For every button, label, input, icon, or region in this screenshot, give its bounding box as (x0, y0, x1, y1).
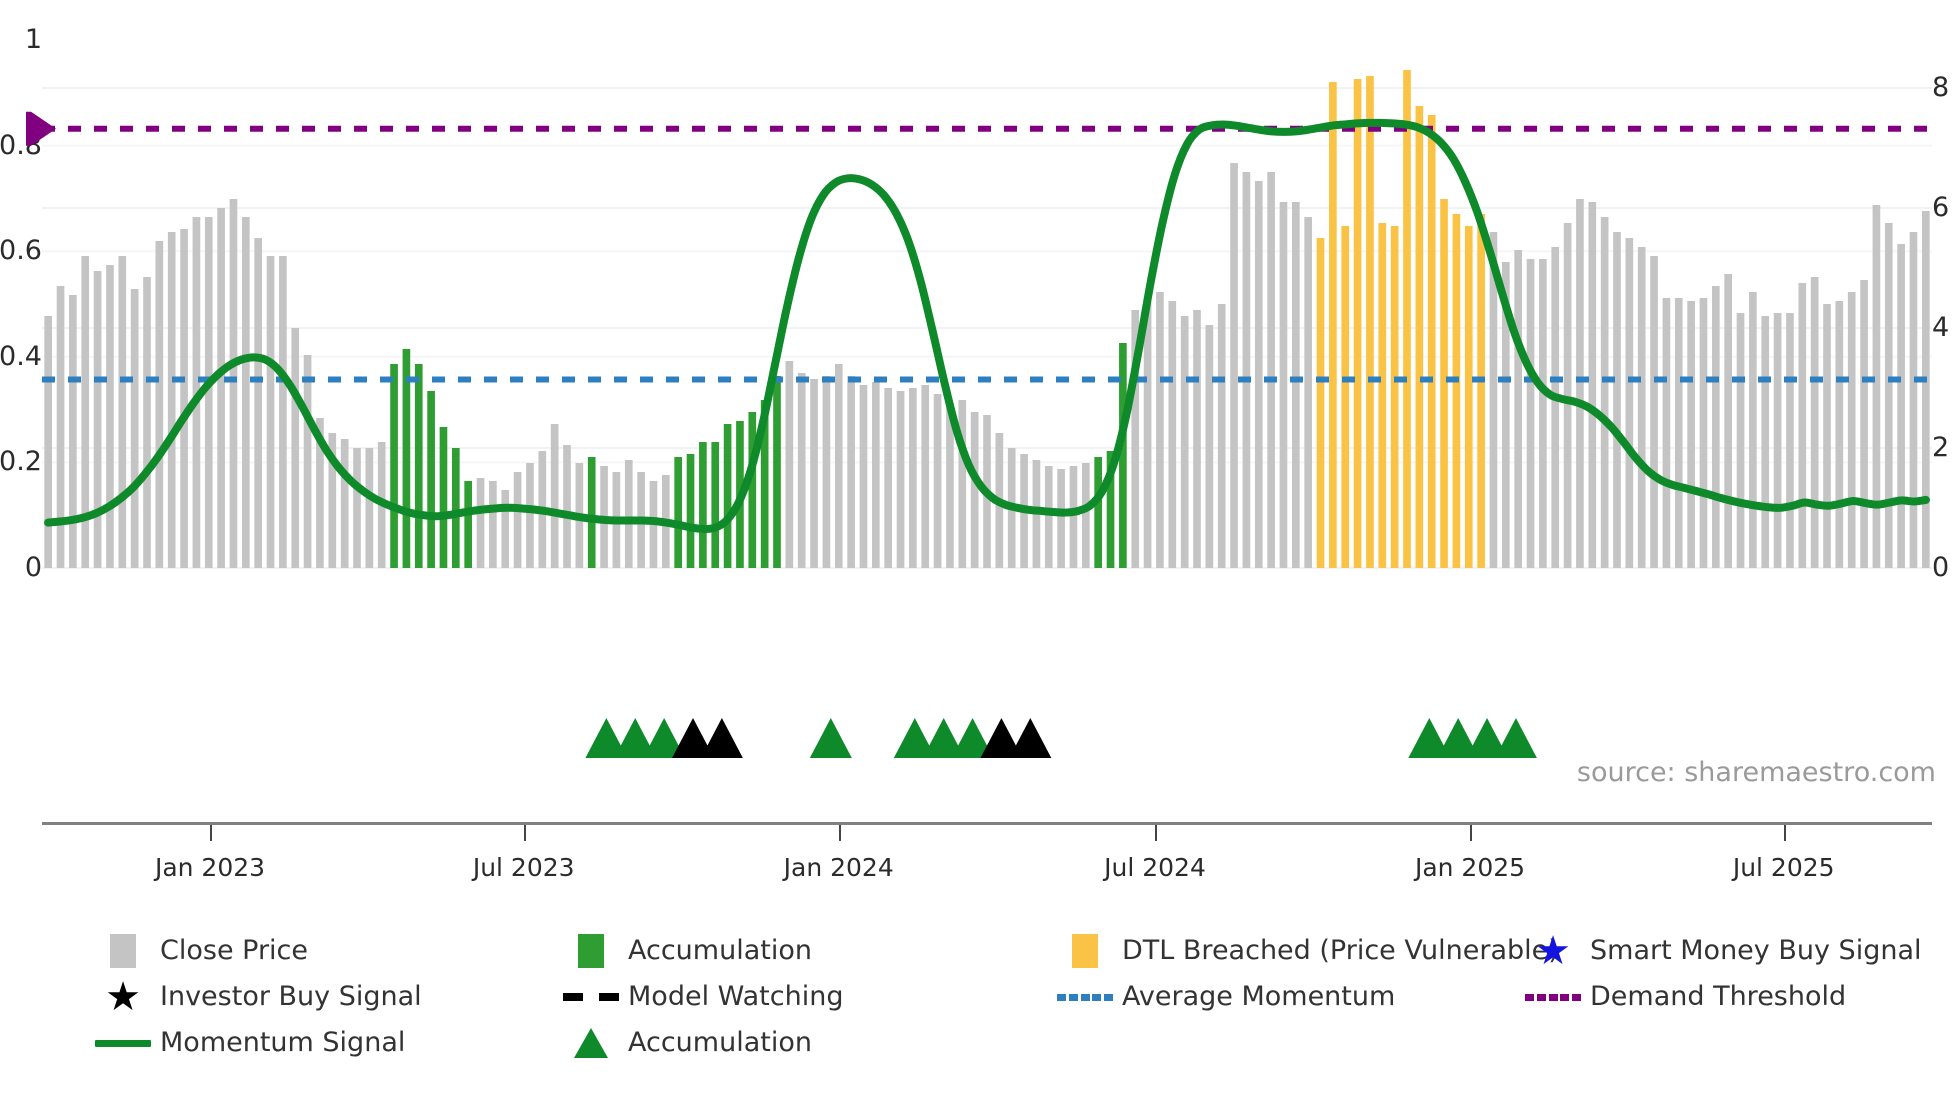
x-tick-label-jan-2023: Jan 2023 (155, 855, 265, 880)
bar-dtl-breached (1440, 199, 1448, 568)
legend-smart-money-buy-signal[interactable]: ★Smart Money Buy Signal (1516, 928, 1922, 974)
dotted-line-icon (1057, 994, 1113, 1001)
bar-close-price (1675, 298, 1683, 568)
bar-close-price (1638, 247, 1646, 568)
bar-close-price (1144, 298, 1152, 568)
bar-accumulation (390, 364, 398, 568)
bar-close-price (1181, 316, 1189, 568)
bar-accumulation (427, 391, 435, 568)
legend-row: Momentum SignalAccumulation (86, 1020, 1946, 1066)
bar-close-price (131, 289, 139, 568)
x-tick-label-jul-2024: Jul 2024 (1104, 855, 1206, 880)
bar-dtl-breached (1477, 214, 1485, 568)
bar-close-price (563, 445, 571, 568)
x-tick-mark (210, 825, 212, 841)
bar-close-price (1836, 301, 1844, 568)
source-attribution: source: sharemaestro.com (1577, 758, 1936, 788)
bar-close-price (1650, 256, 1658, 568)
bar-close-price (971, 412, 979, 568)
square-swatch-icon (578, 934, 604, 968)
bar-accumulation (724, 424, 732, 568)
x-tick-mark (1470, 825, 1472, 841)
bar-close-price (1255, 181, 1263, 568)
legend-model-watching[interactable]: Model Watching (554, 974, 843, 1020)
bar-close-price (551, 424, 559, 568)
legend-label: Close Price (160, 936, 308, 966)
legend-row: Close PriceAccumulationDTL Breached (Pri… (86, 928, 1946, 974)
line-swatch-icon (95, 1040, 151, 1047)
bar-close-price (501, 490, 509, 568)
bar-close-price (909, 388, 917, 568)
dashed-line-icon (563, 993, 619, 1001)
bar-close-price (1774, 313, 1782, 568)
demand-threshold-marker (26, 112, 56, 146)
bar-accumulation (711, 442, 719, 568)
bar-close-price (366, 448, 374, 568)
bar-close-price (526, 463, 534, 568)
x-tick-label-jul-2023: Jul 2023 (473, 855, 575, 880)
x-tick-label-jan-2025: Jan 2025 (1415, 855, 1525, 880)
legend-row: ★Investor Buy SignalModel WatchingAverag… (86, 974, 1946, 1020)
bar-close-price (489, 481, 497, 568)
bar-close-price (1897, 244, 1905, 568)
bar-close-price (254, 238, 262, 568)
bar-close-price (872, 382, 880, 568)
bar-close-price (1786, 313, 1794, 568)
bar-close-price (1663, 298, 1671, 568)
legend-label: Demand Threshold (1590, 982, 1846, 1012)
bar-accumulation (699, 442, 707, 568)
bar-close-price (304, 355, 312, 568)
bar-accumulation (748, 412, 756, 568)
bar-close-price (1218, 304, 1226, 568)
bar-close-price (1057, 469, 1065, 568)
bar-dtl-breached (1428, 115, 1436, 568)
legend-label: Momentum Signal (160, 1028, 405, 1058)
legend-momentum-signal[interactable]: Momentum Signal (86, 1020, 405, 1066)
bar-close-price (1910, 232, 1918, 568)
bar-close-price (353, 448, 361, 568)
bar-close-price (1798, 283, 1806, 568)
bar-close-price (118, 256, 126, 568)
bar-accumulation (687, 454, 695, 568)
chart-canvas (0, 0, 1960, 800)
chart-legend: Close PriceAccumulationDTL Breached (Pri… (86, 928, 1946, 1066)
bar-close-price (1613, 232, 1621, 568)
x-axis-line (42, 822, 1932, 825)
accumulation-marker (810, 718, 852, 758)
bar-close-price (279, 256, 287, 568)
legend-label: Accumulation (628, 936, 812, 966)
legend-label: Investor Buy Signal (160, 982, 422, 1012)
legend-label: Smart Money Buy Signal (1590, 936, 1922, 966)
bar-close-price (180, 229, 188, 568)
bar-dtl-breached (1366, 76, 1374, 568)
bar-close-price (1514, 250, 1522, 568)
plot-area (42, 40, 1932, 570)
bar-close-price (267, 256, 275, 568)
accumulation-markers (585, 718, 1537, 758)
bar-accumulation (1094, 457, 1102, 568)
bar-close-price (1626, 238, 1634, 568)
bar-accumulation (452, 448, 460, 568)
bar-dtl-breached (1317, 238, 1325, 568)
bar-dtl-breached (1403, 70, 1411, 568)
bar-close-price (1712, 286, 1720, 568)
bar-close-price (835, 364, 843, 568)
bar-close-price (1045, 466, 1053, 568)
bar-close-price (1576, 199, 1584, 568)
bar-close-price (958, 400, 966, 568)
investor-buy-signal-marker (701, 718, 743, 758)
bar-close-price (625, 460, 633, 568)
bar-close-price (1070, 466, 1078, 568)
bar-dtl-breached (1453, 214, 1461, 568)
bar-close-price (514, 472, 522, 568)
bar-close-price (341, 439, 349, 568)
bar-close-price (1292, 202, 1300, 568)
bar-close-price (44, 316, 52, 568)
legend-accumulation-bar[interactable]: Accumulation (554, 928, 812, 974)
bar-close-price (1267, 172, 1275, 568)
bar-dtl-breached (1378, 223, 1386, 568)
bar-dtl-breached (1329, 82, 1337, 568)
legend-average-momentum[interactable]: Average Momentum (1048, 974, 1395, 1020)
bar-accumulation (773, 376, 781, 568)
bar-close-price (106, 265, 114, 568)
bar-close-price (143, 277, 151, 568)
x-tick-label-jan-2024: Jan 2024 (784, 855, 894, 880)
bar-close-price (1873, 205, 1881, 568)
square-swatch-icon (1072, 934, 1098, 968)
bar-close-price (1243, 172, 1251, 568)
legend-dtl-breached[interactable]: DTL Breached (Price Vulnerable) (1048, 928, 1559, 974)
chart-page: 10.80.60.40.20 86420 Jan 2023Jul 2023Jan… (0, 0, 1960, 1102)
bar-close-price (156, 241, 164, 568)
bar-close-price (921, 385, 929, 568)
bar-dtl-breached (1391, 226, 1399, 568)
bar-close-price (1860, 280, 1868, 568)
bar-close-price (1922, 211, 1930, 568)
bar-close-price (1737, 313, 1745, 568)
legend-label: DTL Breached (Price Vulnerable) (1122, 936, 1559, 966)
bar-close-price (860, 385, 868, 568)
bar-close-price (1304, 217, 1312, 568)
bar-accumulation (588, 457, 596, 568)
bar-close-price (1885, 223, 1893, 568)
bar-close-price (1193, 310, 1201, 568)
bar-close-price (1749, 292, 1757, 568)
triangle-icon (574, 1028, 608, 1058)
bar-close-price (1687, 301, 1695, 568)
bar-dtl-breached (1341, 226, 1349, 568)
accumulation-marker (1495, 718, 1537, 758)
bar-close-price (94, 271, 102, 568)
x-tick-label-jul-2025: Jul 2025 (1733, 855, 1835, 880)
bar-close-price (242, 217, 250, 568)
star-icon: ★ (1535, 931, 1571, 971)
bar-close-price (847, 376, 855, 568)
bar-close-price (1539, 259, 1547, 568)
bar-close-price (1564, 223, 1572, 568)
legend-investor-buy-signal[interactable]: ★Investor Buy Signal (86, 974, 422, 1020)
bar-close-price (1601, 217, 1609, 568)
bar-close-price (168, 232, 176, 568)
bar-close-price (1206, 325, 1214, 568)
bar-dtl-breached (1465, 226, 1473, 568)
legend-label: Average Momentum (1122, 982, 1395, 1012)
bar-accumulation (440, 427, 448, 568)
bar-close-price (823, 376, 831, 568)
bar-close-price (1280, 202, 1288, 568)
bar-close-price (1761, 316, 1769, 568)
bar-close-price (786, 361, 794, 568)
bar-close-price (1156, 292, 1164, 568)
x-tick-mark (1784, 825, 1786, 841)
bar-accumulation (674, 457, 682, 568)
bar-dtl-breached (1416, 106, 1424, 568)
x-tick-mark (839, 825, 841, 841)
bar-accumulation (415, 364, 423, 568)
investor-buy-signal-marker (1009, 718, 1051, 758)
bar-close-price (810, 379, 818, 568)
dotted-line-icon (1525, 994, 1581, 1001)
bar-close-price (230, 199, 238, 568)
bar-close-price (1700, 298, 1708, 568)
bar-close-price (1823, 304, 1831, 568)
bar-close-price (1551, 247, 1559, 568)
square-swatch-icon (110, 934, 136, 968)
legend-label: Accumulation (628, 1028, 812, 1058)
bar-accumulation (464, 481, 472, 568)
legend-accumulation-marker[interactable]: Accumulation (554, 1020, 812, 1066)
bar-dtl-breached (1354, 79, 1362, 568)
bar-close-price (217, 208, 225, 568)
bar-close-price (1230, 163, 1238, 568)
bar-close-price (1168, 301, 1176, 568)
bar-close-price (1848, 292, 1856, 568)
bar-close-price (798, 373, 806, 568)
star-icon: ★ (105, 977, 141, 1017)
legend-demand-threshold[interactable]: Demand Threshold (1516, 974, 1846, 1020)
bar-close-price (1082, 463, 1090, 568)
x-tick-mark (524, 825, 526, 841)
legend-label: Model Watching (628, 982, 843, 1012)
bar-close-price (884, 388, 892, 568)
legend-close-price[interactable]: Close Price (86, 928, 308, 974)
x-tick-mark (1155, 825, 1157, 841)
bar-close-price (69, 295, 77, 568)
bar-close-price (477, 478, 485, 568)
bar-close-price (1811, 277, 1819, 568)
bar-close-price (1588, 202, 1596, 568)
bar-close-price (1724, 274, 1732, 568)
bar-close-price (291, 328, 299, 568)
bar-close-price (934, 394, 942, 568)
bar-close-price (897, 391, 905, 568)
bar-close-price (1527, 259, 1535, 568)
